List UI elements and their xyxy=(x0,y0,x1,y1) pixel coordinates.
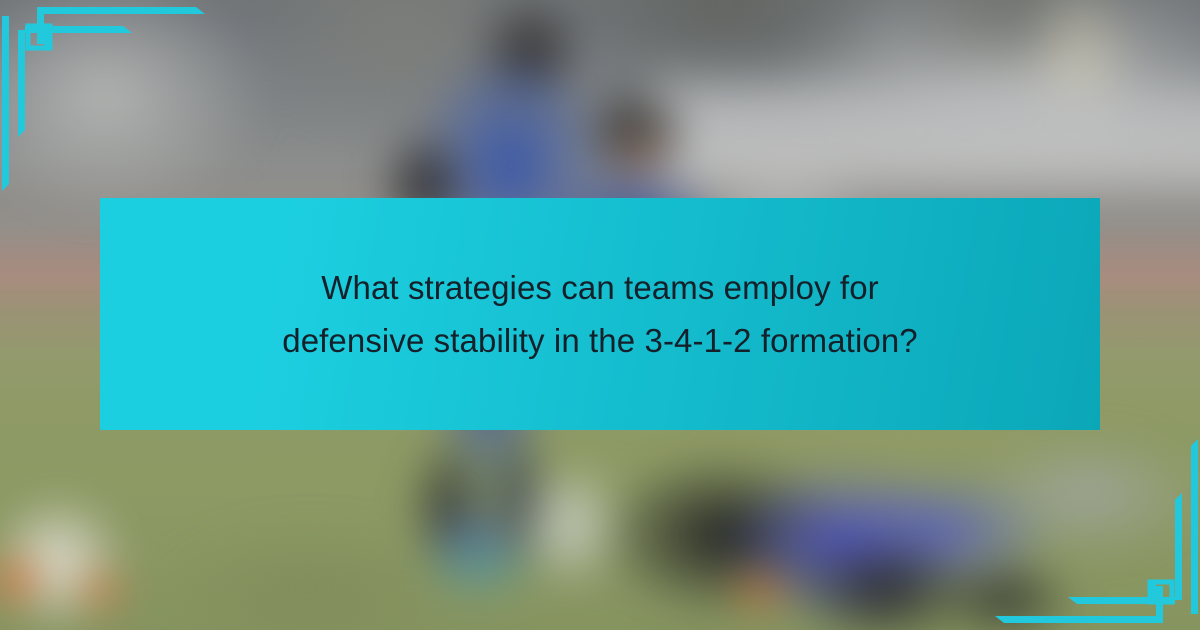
sliding-player-accent-blob xyxy=(715,555,805,625)
question-line-1: What strategies can teams employ for xyxy=(321,269,879,306)
question-line-2: defensive stability in the 3-4-1-2 forma… xyxy=(282,322,918,359)
question-card: What strategies can teams employ for def… xyxy=(0,0,1200,630)
stadium-wall-left-blob xyxy=(0,0,270,220)
question-banner: What strategies can teams employ for def… xyxy=(100,198,1100,430)
soccer-ball-orange-blob-2 xyxy=(60,555,140,625)
question-text: What strategies can teams employ for def… xyxy=(146,261,1054,368)
